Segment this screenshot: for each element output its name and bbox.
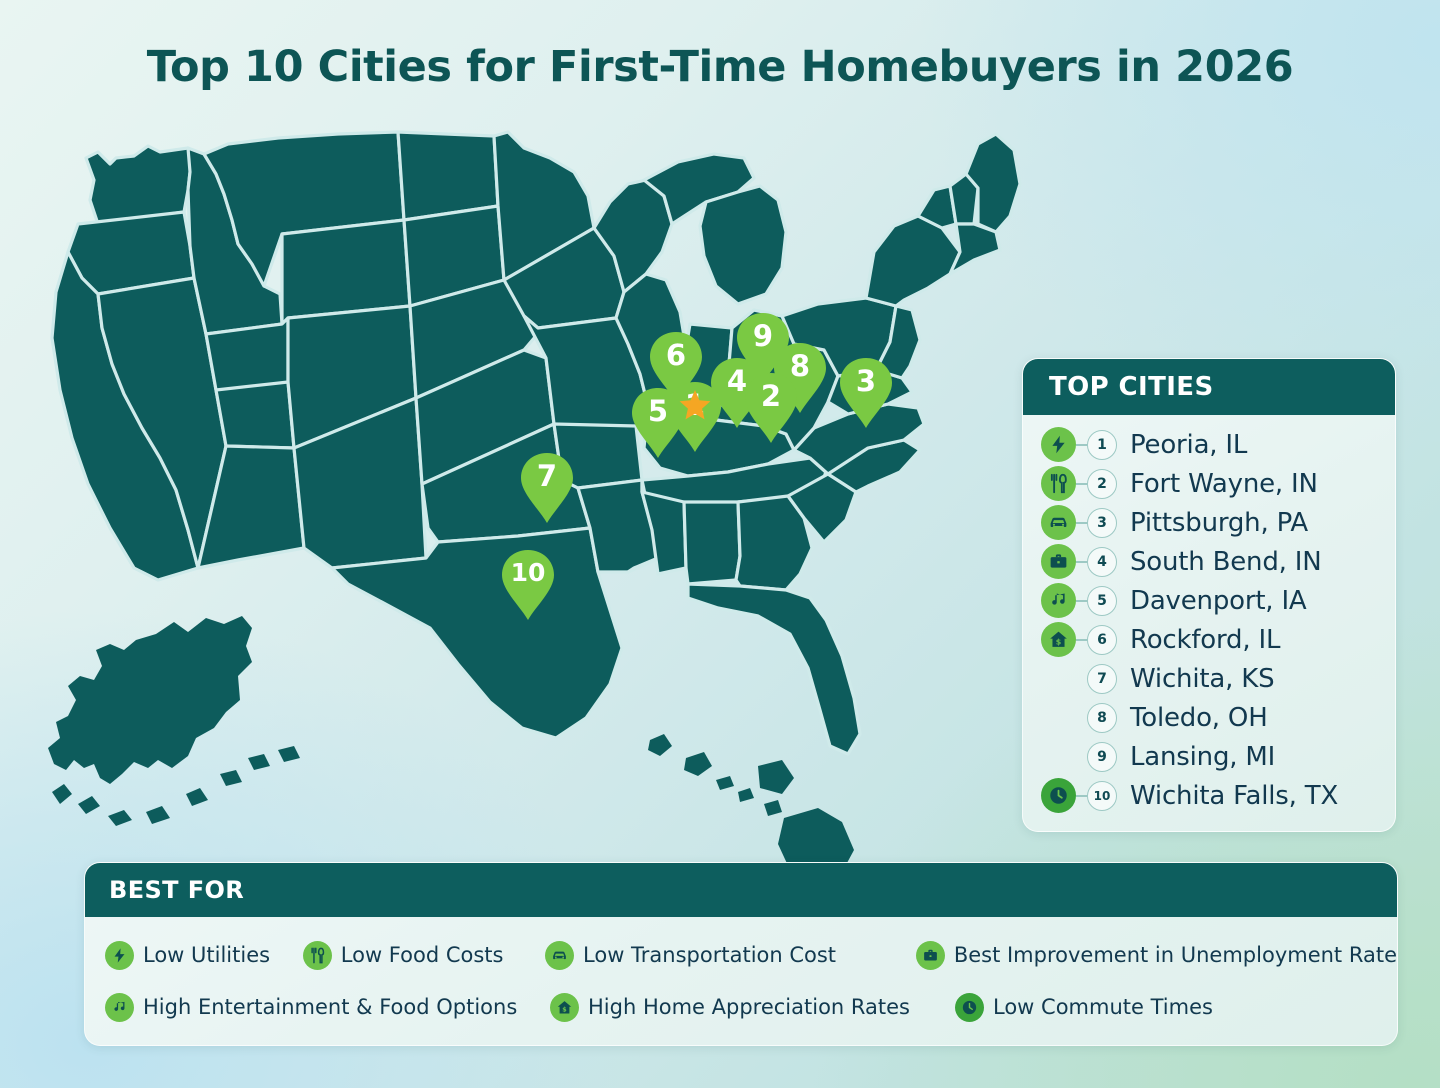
briefcase-icon xyxy=(916,941,945,970)
city-row-2[interactable]: 2 Fort Wayne, IN xyxy=(1023,464,1395,503)
city-row-10[interactable]: 10 Wichita Falls, TX xyxy=(1023,776,1395,815)
best-for-legend: Low Utilities Low Food Costs Low Transpo… xyxy=(85,917,1397,1033)
city-name: Wichita, KS xyxy=(1130,664,1274,694)
city-name: Wichita Falls, TX xyxy=(1130,781,1338,811)
pin-number: 7 xyxy=(519,460,575,492)
legend-item-best-improvement-unemployment[interactable]: Best Improvement in Unemployment Rate xyxy=(916,941,1397,970)
connector-line xyxy=(1076,444,1087,446)
connector-line xyxy=(1076,756,1087,758)
legend-label: Best Improvement in Unemployment Rate xyxy=(954,943,1397,967)
infographic-canvas: Top 10 Cities for First-Time Homebuyers … xyxy=(0,0,1440,1088)
city-name: Fort Wayne, IN xyxy=(1130,469,1318,499)
top-cities-header: TOP CITIES xyxy=(1023,359,1395,415)
connector-line xyxy=(1076,795,1087,797)
legend-item-high-entertainment-food[interactable]: High Entertainment & Food Options xyxy=(105,993,550,1022)
city-row-5[interactable]: 5 Davenport, IA xyxy=(1023,581,1395,620)
pin-number: 6 xyxy=(648,339,704,371)
city-row-9[interactable]: 9 Lansing, MI xyxy=(1023,737,1395,776)
legend-label: Low Food Costs xyxy=(341,943,504,967)
connector-line xyxy=(1076,639,1087,641)
music-notes-icon xyxy=(105,993,134,1022)
connector-line xyxy=(1076,600,1087,602)
connector-line xyxy=(1076,483,1087,485)
legend-item-high-home-appreciation[interactable]: $ High Home Appreciation Rates xyxy=(550,993,955,1022)
city-name: Pittsburgh, PA xyxy=(1130,508,1308,538)
music-notes-icon xyxy=(1041,583,1076,618)
city-row-6[interactable]: $ 6 Rockford, IL xyxy=(1023,620,1395,659)
connector-line xyxy=(1076,717,1087,719)
legend-item-low-transportation-cost[interactable]: Low Transportation Cost xyxy=(545,941,916,970)
no-icon-placeholder xyxy=(1041,661,1076,696)
rank-badge: 5 xyxy=(1087,586,1117,616)
best-for-row-1: Low Utilities Low Food Costs Low Transpo… xyxy=(105,929,1397,981)
best-for-row-2: High Entertainment & Food Options $ High… xyxy=(105,981,1397,1033)
legend-label: High Home Appreciation Rates xyxy=(588,995,910,1019)
map-pin-10[interactable]: 10 xyxy=(500,548,556,622)
rank-badge: 2 xyxy=(1087,469,1117,499)
connector-line xyxy=(1076,522,1087,524)
city-name: South Bend, IN xyxy=(1130,547,1322,577)
legend-item-low-food-costs[interactable]: Low Food Costs xyxy=(303,941,545,970)
fork-knife-icon xyxy=(1041,466,1076,501)
rank-badge: 9 xyxy=(1087,742,1117,772)
top-cities-panel: TOP CITIES 1 Peoria, IL 2 Fort Wayne, IN xyxy=(1022,358,1396,832)
rank-badge: 4 xyxy=(1087,547,1117,577)
pin-number: 2 xyxy=(743,380,799,412)
rank-badge: 8 xyxy=(1087,703,1117,733)
home-star-marker xyxy=(678,388,712,422)
pin-number: 3 xyxy=(838,365,894,397)
legend-item-low-commute-times[interactable]: Low Commute Times xyxy=(955,993,1213,1022)
map-pin-7[interactable]: 7 xyxy=(519,451,575,525)
lightning-bolt-icon xyxy=(1041,427,1076,462)
fork-knife-icon xyxy=(303,941,332,970)
city-row-7[interactable]: 7 Wichita, KS xyxy=(1023,659,1395,698)
rank-badge: 10 xyxy=(1087,781,1117,811)
rank-badge: 7 xyxy=(1087,664,1117,694)
city-name: Rockford, IL xyxy=(1130,625,1280,655)
clock-icon xyxy=(1041,778,1076,813)
city-name: Davenport, IA xyxy=(1130,586,1307,616)
connector-line xyxy=(1076,561,1087,563)
no-icon-placeholder xyxy=(1041,700,1076,735)
connector-line xyxy=(1076,678,1087,680)
city-row-1[interactable]: 1 Peoria, IL xyxy=(1023,425,1395,464)
map-pin-2[interactable]: 2 xyxy=(743,371,799,445)
legend-label: Low Transportation Cost xyxy=(583,943,836,967)
legend-label: High Entertainment & Food Options xyxy=(143,995,517,1019)
clock-icon xyxy=(955,993,984,1022)
city-name: Lansing, MI xyxy=(1130,742,1275,772)
car-icon xyxy=(1041,505,1076,540)
best-for-panel: BEST FOR Low Utilities Low Food Costs xyxy=(84,862,1398,1046)
briefcase-icon xyxy=(1041,544,1076,579)
city-row-4[interactable]: 4 South Bend, IN xyxy=(1023,542,1395,581)
house-dollar-icon: $ xyxy=(1041,622,1076,657)
top-cities-list: 1 Peoria, IL 2 Fort Wayne, IN 3 Pittsbur… xyxy=(1023,415,1395,815)
legend-label: Low Utilities xyxy=(143,943,270,967)
city-name: Peoria, IL xyxy=(1130,430,1247,460)
rank-badge: 3 xyxy=(1087,508,1117,538)
no-icon-placeholder xyxy=(1041,739,1076,774)
rank-badge: 6 xyxy=(1087,625,1117,655)
page-title: Top 10 Cities for First-Time Homebuyers … xyxy=(0,42,1440,92)
city-row-8[interactable]: 8 Toledo, OH xyxy=(1023,698,1395,737)
best-for-header: BEST FOR xyxy=(85,863,1397,917)
pin-number: 10 xyxy=(500,557,556,589)
rank-badge: 1 xyxy=(1087,430,1117,460)
lightning-bolt-icon xyxy=(105,941,134,970)
city-name: Toledo, OH xyxy=(1130,703,1268,733)
house-dollar-icon: $ xyxy=(550,993,579,1022)
city-row-3[interactable]: 3 Pittsburgh, PA xyxy=(1023,503,1395,542)
map-pin-3[interactable]: 3 xyxy=(838,356,894,430)
svg-text:$: $ xyxy=(1056,637,1061,646)
legend-label: Low Commute Times xyxy=(993,995,1213,1019)
car-icon xyxy=(545,941,574,970)
legend-item-low-utilities[interactable]: Low Utilities xyxy=(105,941,303,970)
svg-text:$: $ xyxy=(562,1005,566,1013)
